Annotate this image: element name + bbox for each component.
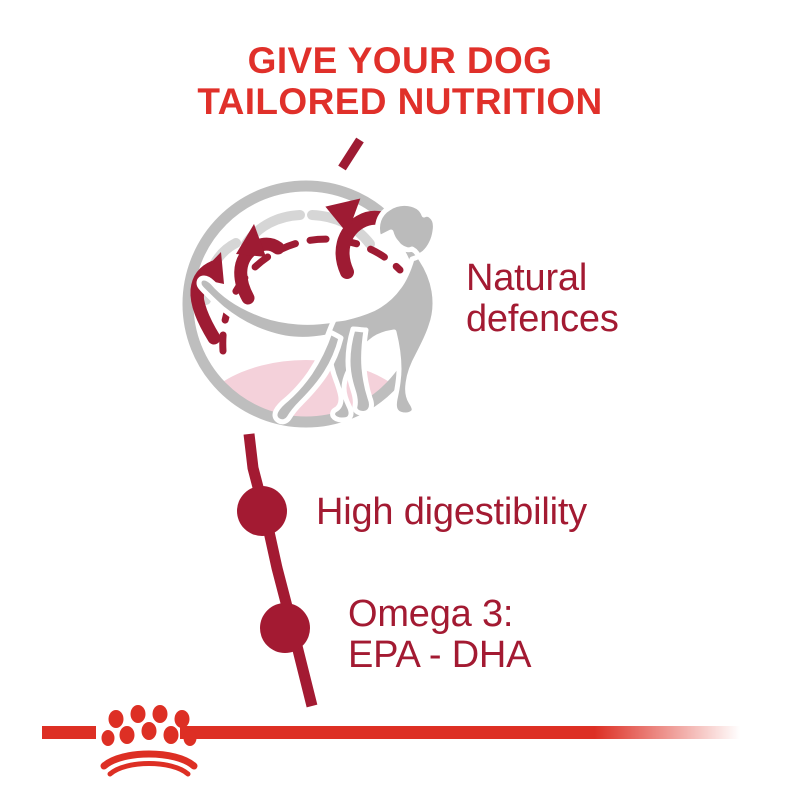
feature-label-omega-3: Omega 3: EPA - DHA — [348, 594, 531, 675]
page-title: GIVE YOUR DOG TAILORED NUTRITION — [0, 40, 800, 122]
connector-top-tick — [342, 140, 360, 168]
crown-icon — [102, 705, 197, 774]
feature-label-natural-defences: Natural defences — [466, 258, 619, 339]
deflect-arrow-icon-left — [196, 252, 224, 340]
connector-node-2 — [260, 603, 310, 653]
poster-canvas: GIVE YOUR DOG TAILORED NUTRITION — [0, 0, 800, 800]
brand-footer — [0, 690, 800, 800]
dog-silhouette-icon — [199, 203, 435, 421]
circle-ring — [188, 186, 424, 422]
deflect-arrow-icon-group — [196, 191, 393, 340]
feature-connector-line — [237, 434, 312, 706]
feature-label-high-digestibility: High digestibility — [316, 492, 587, 533]
footer-bar-right — [180, 726, 740, 739]
connector-node-1 — [237, 486, 287, 536]
dashed-shield-icon — [223, 239, 400, 351]
footer-bar-left — [42, 726, 96, 739]
deflect-arrow-icon-middle — [236, 224, 278, 298]
grey-deflection-arcs — [206, 215, 370, 300]
floor-shadow — [190, 360, 422, 504]
deflect-arrow-icon-right — [325, 191, 393, 272]
